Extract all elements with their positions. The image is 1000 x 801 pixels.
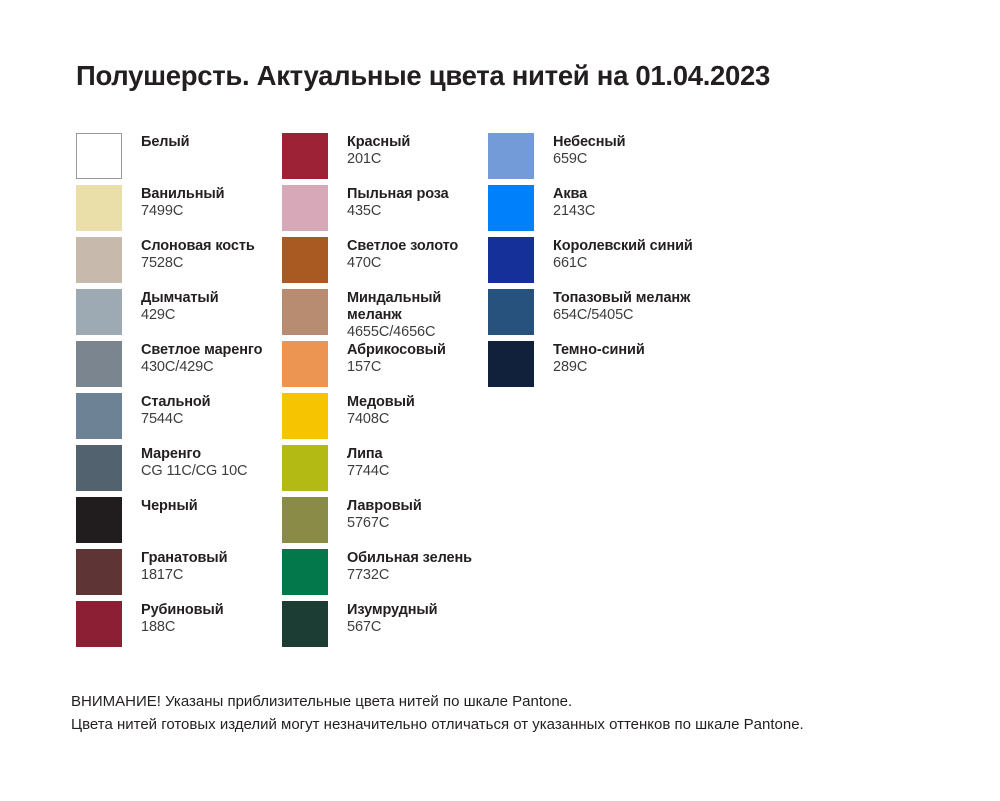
swatch-pantone-code: 470C <box>347 255 458 272</box>
color-swatch[interactable] <box>282 133 328 179</box>
swatch-row[interactable]: Рубиновый188C <box>76 601 282 653</box>
swatch-text: Ванильный7499C <box>141 185 225 220</box>
swatch-name: Маренго <box>141 446 247 463</box>
swatch-name: Красный <box>347 134 410 151</box>
swatch-pantone-code: 654C/5405C <box>553 307 690 324</box>
swatch-pantone-code: 661C <box>553 255 693 272</box>
color-swatch[interactable] <box>76 289 122 335</box>
swatch-row[interactable]: Стальной7544C <box>76 393 282 445</box>
swatch-name: Дымчатый <box>141 290 219 307</box>
swatch-name: Стальной <box>141 394 211 411</box>
color-swatch[interactable] <box>76 393 122 439</box>
swatch-name: Лавровый <box>347 498 422 515</box>
swatch-pantone-code: 5767C <box>347 515 422 532</box>
swatch-row[interactable]: Медовый7408C <box>282 393 488 445</box>
swatch-name: Пыльная роза <box>347 186 449 203</box>
swatch-text: Черный <box>141 497 198 515</box>
color-swatch[interactable] <box>488 237 534 283</box>
swatch-text: Красный201C <box>347 133 410 168</box>
color-swatch[interactable] <box>76 497 122 543</box>
swatch-name: Светлое маренго <box>141 342 262 359</box>
color-swatch[interactable] <box>282 289 328 335</box>
swatch-pantone-code: 7528C <box>141 255 255 272</box>
swatch-name: Аква <box>553 186 595 203</box>
swatch-text: Обильная зелень7732C <box>347 549 472 584</box>
swatch-name: Белый <box>141 134 190 151</box>
color-swatch[interactable] <box>282 601 328 647</box>
swatch-row[interactable]: Обильная зелень7732C <box>282 549 488 601</box>
color-swatch[interactable] <box>76 445 122 491</box>
swatch-row[interactable]: Абрикосовый157C <box>282 341 488 393</box>
swatch-text: Светлое золото470C <box>347 237 458 272</box>
color-swatch[interactable] <box>76 341 122 387</box>
swatch-row[interactable]: Слоновая кость7528C <box>76 237 282 289</box>
color-swatch[interactable] <box>488 289 534 335</box>
swatch-name: Ванильный <box>141 186 225 203</box>
swatch-text: Гранатовый1817C <box>141 549 227 584</box>
swatch-row[interactable]: Небесный659C <box>488 133 738 185</box>
swatch-pantone-code: 435C <box>347 203 449 220</box>
color-swatch[interactable] <box>76 549 122 595</box>
swatch-pantone-code: 157C <box>347 359 446 376</box>
swatch-text: Белый <box>141 133 190 151</box>
color-swatch[interactable] <box>76 237 122 283</box>
swatch-name: Гранатовый <box>141 550 227 567</box>
swatch-text: Аква2143C <box>553 185 595 220</box>
color-swatch[interactable] <box>488 185 534 231</box>
footer-line-1: ВНИМАНИЕ! Указаны приблизительные цвета … <box>71 691 951 714</box>
swatch-row[interactable]: Черный <box>76 497 282 549</box>
color-swatch[interactable] <box>282 445 328 491</box>
swatch-name: Медовый <box>347 394 415 411</box>
swatch-row[interactable]: Красный201C <box>282 133 488 185</box>
color-swatch[interactable] <box>282 341 328 387</box>
swatch-text: Топазовый меланж654C/5405C <box>553 289 690 324</box>
swatch-text: Темно-синий289C <box>553 341 645 376</box>
swatch-text: Светлое маренго430C/429C <box>141 341 262 376</box>
swatch-pantone-code: 1817C <box>141 567 227 584</box>
swatch-name: Рубиновый <box>141 602 224 619</box>
swatch-text: Абрикосовый157C <box>347 341 446 376</box>
color-swatch[interactable] <box>282 497 328 543</box>
swatch-text: Липа7744C <box>347 445 389 480</box>
swatch-row[interactable]: Королевский синий661C <box>488 237 738 289</box>
swatch-row[interactable]: Темно-синий289C <box>488 341 738 393</box>
color-swatch[interactable] <box>488 133 534 179</box>
swatch-pantone-code: 7499C <box>141 203 225 220</box>
swatch-row[interactable]: Гранатовый1817C <box>76 549 282 601</box>
color-swatch[interactable] <box>488 341 534 387</box>
swatch-row[interactable]: Светлое маренго430C/429C <box>76 341 282 393</box>
swatch-pantone-code: 2143C <box>553 203 595 220</box>
swatch-row[interactable]: МаренгоCG 11C/CG 10C <box>76 445 282 497</box>
swatch-pantone-code: 567C <box>347 619 438 636</box>
swatch-name: Абрикосовый <box>347 342 446 359</box>
swatch-name: Светлое золото <box>347 238 458 255</box>
swatch-text: Небесный659C <box>553 133 626 168</box>
swatch-name: Изумрудный <box>347 602 438 619</box>
color-swatch[interactable] <box>282 549 328 595</box>
swatch-pantone-code: 7732C <box>347 567 472 584</box>
swatch-row[interactable]: Светлое золото470C <box>282 237 488 289</box>
swatch-row[interactable]: Аква2143C <box>488 185 738 237</box>
swatch-pantone-code: 201C <box>347 151 410 168</box>
swatch-text: Миндальный меланж4655C/4656C <box>347 289 441 340</box>
swatch-pantone-code: 188C <box>141 619 224 636</box>
swatch-row[interactable]: Миндальный меланж4655C/4656C <box>282 289 488 341</box>
swatch-pantone-code: 289C <box>553 359 645 376</box>
swatch-text: Слоновая кость7528C <box>141 237 255 272</box>
swatch-name: Королевский синий <box>553 238 693 255</box>
color-palette-page: Полушерсть. Актуальные цвета нитей на 01… <box>0 0 1000 801</box>
swatch-text: Медовый7408C <box>347 393 415 428</box>
swatch-name: Липа <box>347 446 389 463</box>
swatch-text: Пыльная роза435C <box>347 185 449 220</box>
swatch-pantone-code: 7544C <box>141 411 211 428</box>
color-swatch[interactable] <box>282 393 328 439</box>
swatch-name: Топазовый меланж <box>553 290 690 307</box>
swatch-name: Черный <box>141 498 198 515</box>
palette-column-2: Красный201CПыльная роза435CСветлое золот… <box>282 133 488 653</box>
swatch-name: Миндальный меланж <box>347 290 441 324</box>
swatch-pantone-code: 7744C <box>347 463 389 480</box>
footer-line-2: Цвета нитей готовых изделий могут незнач… <box>71 714 951 737</box>
swatch-text: Королевский синий661C <box>553 237 693 272</box>
color-swatch[interactable] <box>282 185 328 231</box>
swatch-pantone-code: CG 11C/CG 10C <box>141 463 247 480</box>
swatch-row[interactable]: Дымчатый429C <box>76 289 282 341</box>
swatch-name: Небесный <box>553 134 626 151</box>
swatch-pantone-code: 429C <box>141 307 219 324</box>
swatch-row[interactable]: Белый <box>76 133 282 185</box>
palette-column-3: Небесный659CАква2143CКоролевский синий66… <box>488 133 738 393</box>
swatch-text: Дымчатый429C <box>141 289 219 324</box>
swatch-text: МаренгоCG 11C/CG 10C <box>141 445 247 480</box>
swatch-pantone-code: 430C/429C <box>141 359 262 376</box>
color-swatch[interactable] <box>282 237 328 283</box>
swatch-name: Слоновая кость <box>141 238 255 255</box>
swatch-text: Лавровый5767C <box>347 497 422 532</box>
page-title: Полушерсть. Актуальные цвета нитей на 01… <box>76 60 936 92</box>
palette-grid: БелыйВанильный7499CСлоновая кость7528CДы… <box>76 133 946 653</box>
swatch-row[interactable]: Лавровый5767C <box>282 497 488 549</box>
footer-disclaimer: ВНИМАНИЕ! Указаны приблизительные цвета … <box>71 691 951 737</box>
swatch-row[interactable]: Топазовый меланж654C/5405C <box>488 289 738 341</box>
swatch-pantone-code: 7408C <box>347 411 415 428</box>
swatch-row[interactable]: Липа7744C <box>282 445 488 497</box>
color-swatch[interactable] <box>76 601 122 647</box>
palette-column-1: БелыйВанильный7499CСлоновая кость7528CДы… <box>76 133 282 653</box>
swatch-text: Рубиновый188C <box>141 601 224 636</box>
color-swatch[interactable] <box>76 133 122 179</box>
color-swatch[interactable] <box>76 185 122 231</box>
swatch-row[interactable]: Пыльная роза435C <box>282 185 488 237</box>
swatch-row[interactable]: Изумрудный567C <box>282 601 488 653</box>
swatch-text: Стальной7544C <box>141 393 211 428</box>
swatch-row[interactable]: Ванильный7499C <box>76 185 282 237</box>
swatch-pantone-code: 4655C/4656C <box>347 324 441 341</box>
swatch-name: Темно-синий <box>553 342 645 359</box>
swatch-name: Обильная зелень <box>347 550 472 567</box>
swatch-text: Изумрудный567C <box>347 601 438 636</box>
swatch-pantone-code: 659C <box>553 151 626 168</box>
